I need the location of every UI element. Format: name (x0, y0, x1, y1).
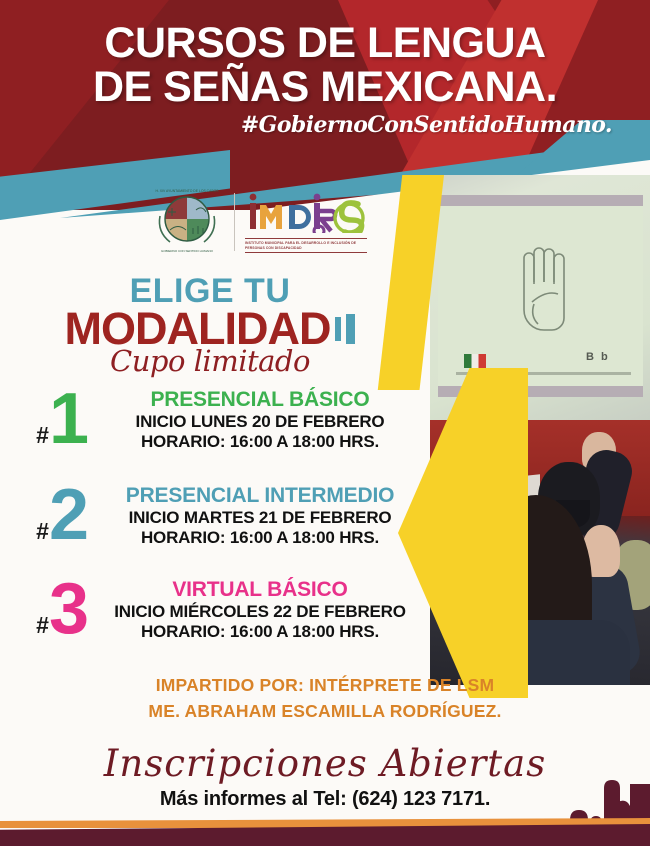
headline-line-1: CURSOS DE LENGUA (0, 22, 650, 66)
course-schedule-3: HORARIO: 16:00 A 18:00 HRS. (90, 622, 430, 642)
poster-canvas: CURSOS DE LENGUA DE SEÑAS MEXICANA. #Gob… (0, 0, 650, 846)
course-start-3: INICIO MIÉRCOLES 22 DE FEBRERO (90, 602, 430, 622)
course-number-3: # 3 (0, 581, 90, 639)
instructor-block: IMPARTIDO POR: INTÉRPRETE DE LSM ME. ABR… (0, 672, 650, 725)
course-rank-3: 3 (49, 581, 86, 639)
chart-letter-label: B b (586, 351, 610, 363)
imdis-wordmark-icon (245, 191, 373, 237)
instructor-line-2: ME. ABRAHAM ESCAMILLA RODRÍGUEZ. (0, 698, 650, 724)
imdis-rule-bottom (245, 252, 367, 253)
svg-text:H. XIV AYUNTAMIENTO DE LOS CAB: H. XIV AYUNTAMIENTO DE LOS CABOS (155, 189, 219, 193)
imdis-subtitle: INSTITUTO MUNICIPAL PARA EL DESARROLLO E… (245, 241, 367, 251)
course-details-1: PRESENCIAL BÁSICO INICIO LUNES 20 DE FEB… (90, 388, 430, 452)
instructor-line-1: IMPARTIDO POR: INTÉRPRETE DE LSM (0, 672, 650, 698)
poster-headline: CURSOS DE LENGUA DE SEÑAS MEXICANA. (0, 22, 650, 110)
course-rank-2: 2 (49, 487, 86, 545)
course-item-2[interactable]: # 2 PRESENCIAL INTERMEDIO INICIO MARTES … (0, 484, 430, 548)
course-item-3[interactable]: # 3 VIRTUAL BÁSICO INICIO MIÉRCOLES 22 D… (0, 578, 430, 642)
contact-phone: Más informes al Tel: (624) 123 7171. (0, 788, 650, 811)
campaign-hashtag: #GobiernoConSentidoHumano. (0, 112, 650, 138)
mexico-flag-icon (464, 354, 486, 368)
course-title-2: PRESENCIAL INTERMEDIO (90, 484, 430, 508)
hash-icon: # (36, 614, 49, 637)
course-rank-1: 1 (49, 391, 86, 449)
course-details-2: PRESENCIAL INTERMEDIO INICIO MARTES 21 D… (90, 484, 430, 548)
course-title-1: PRESENCIAL BÁSICO (90, 388, 430, 412)
chart-paper: B b (438, 195, 643, 397)
svg-text:GOBIERNO CON SENTIDO HUMANO: GOBIERNO CON SENTIDO HUMANO (161, 249, 214, 253)
course-start-2: INICIO MARTES 21 DE FEBRERO (90, 508, 430, 528)
limited-spots-note: Cupo limitado (0, 344, 420, 378)
municipality-seal-icon: H. XIV AYUNTAMIENTO DE LOS CABOS GOBIERN… (150, 186, 224, 259)
logo-bar: H. XIV AYUNTAMIENTO DE LOS CABOS GOBIERN… (150, 186, 400, 258)
course-start-1: INICIO LUNES 20 DE FEBRERO (90, 412, 430, 432)
course-schedule-1: HORARIO: 16:00 A 18:00 HRS. (90, 432, 430, 452)
imdis-rule-top (245, 238, 367, 239)
imdis-logo: INSTITUTO MUNICIPAL PARA EL DESARROLLO E… (245, 191, 373, 253)
course-schedule-2: HORARIO: 16:00 A 18:00 HRS. (90, 528, 430, 548)
logo-divider (234, 193, 235, 251)
course-number-2: # 2 (0, 487, 90, 545)
hand-sign-icon (508, 244, 578, 351)
hash-icon: # (36, 520, 49, 543)
headline-line-2: DE SEÑAS MEXICANA. (0, 66, 650, 110)
title-accent-bar-large (346, 314, 355, 344)
course-number-1: # 1 (0, 391, 90, 449)
course-details-3: VIRTUAL BÁSICO INICIO MIÉRCOLES 22 DE FE… (90, 578, 430, 642)
course-title-3: VIRTUAL BÁSICO (90, 578, 430, 602)
hash-icon: # (36, 424, 49, 447)
enrollment-script: Inscripciones Abiertas (0, 742, 650, 785)
title-accent-bar-small (335, 317, 341, 341)
course-item-1[interactable]: # 1 PRESENCIAL BÁSICO INICIO LUNES 20 DE… (0, 388, 430, 452)
